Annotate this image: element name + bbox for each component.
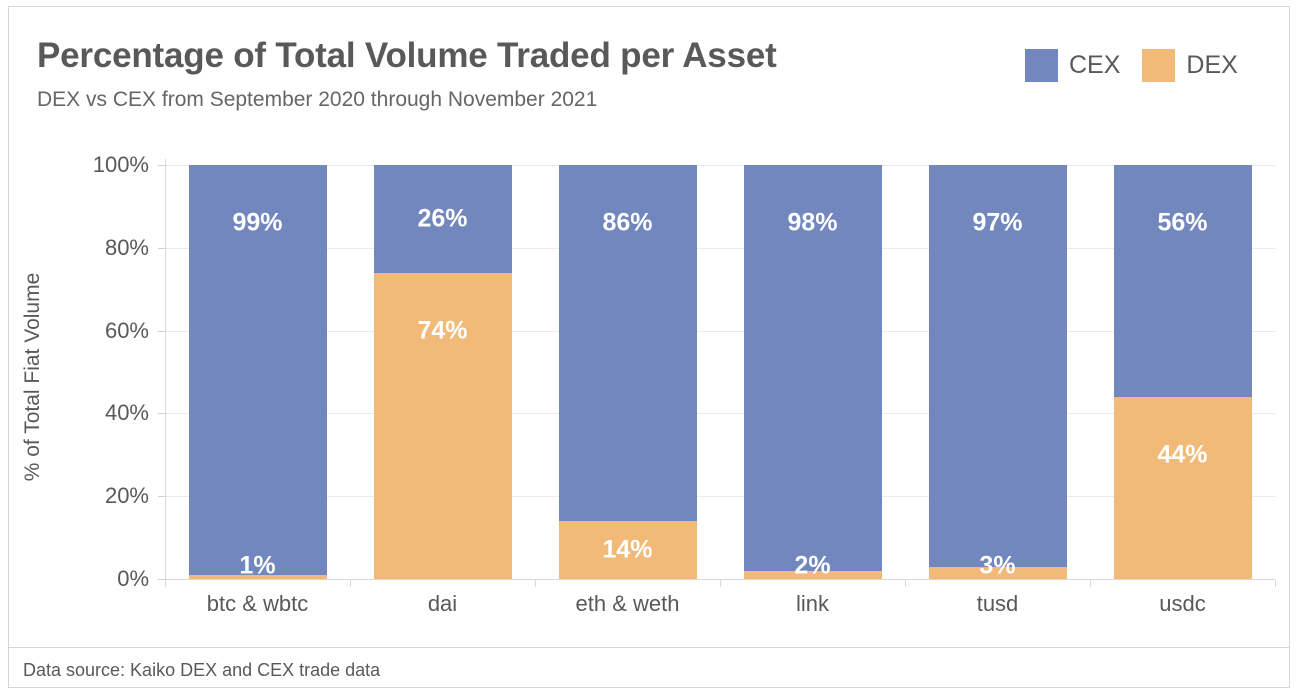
- bar-segment-cex[interactable]: [1114, 165, 1252, 397]
- y-axis-tickmark: [158, 496, 165, 497]
- bar-segment-cex[interactable]: [559, 165, 697, 521]
- y-axis-tickmark: [158, 579, 165, 580]
- x-axis-tickmark: [905, 580, 906, 587]
- bar-group[interactable]: 98%2%link: [744, 7, 882, 689]
- x-axis-tick-label: usdc: [1114, 591, 1252, 617]
- x-axis-tick-label: link: [744, 591, 882, 617]
- x-axis-tickmark: [535, 580, 536, 587]
- x-axis-tickmark: [165, 580, 166, 587]
- y-axis-tick-label: 40%: [44, 400, 149, 426]
- bar-group[interactable]: 97%3%tusd: [929, 7, 1067, 689]
- y-axis-tickmark: [158, 413, 165, 414]
- x-axis-tick-label: btc & wbtc: [189, 591, 327, 617]
- footer-divider: [9, 647, 1289, 648]
- chart-card: Percentage of Total Volume Traded per As…: [8, 6, 1290, 688]
- y-axis-tick-label: 100%: [44, 152, 149, 178]
- x-axis-tick-label: dai: [374, 591, 512, 617]
- x-axis-tickmark: [350, 580, 351, 587]
- bar-segment-dex[interactable]: [929, 567, 1067, 579]
- y-axis-tickmark: [158, 248, 165, 249]
- x-axis-tickmark: [720, 580, 721, 587]
- x-axis-tickmark: [1090, 580, 1091, 587]
- y-axis-tick-labels: 0%20%40%60%80%100%: [31, 7, 149, 689]
- x-axis-tick-label: tusd: [929, 591, 1067, 617]
- bar-group[interactable]: 26%74%dai: [374, 7, 512, 689]
- bar-segment-dex[interactable]: [744, 571, 882, 579]
- y-axis-tickmark: [158, 165, 165, 166]
- y-axis-tick-label: 60%: [44, 318, 149, 344]
- y-axis-tick-label: 0%: [44, 566, 149, 592]
- bar-segment-dex[interactable]: [189, 575, 327, 579]
- y-axis-tickmark: [158, 331, 165, 332]
- bar-segment-dex[interactable]: [1114, 397, 1252, 579]
- x-axis-tickmark: [1275, 580, 1276, 587]
- bar-segment-cex[interactable]: [374, 165, 512, 273]
- x-axis-tick-label: eth & weth: [559, 591, 697, 617]
- bar-segment-dex[interactable]: [559, 521, 697, 579]
- y-axis-tick-label: 80%: [44, 235, 149, 261]
- bar-series-container: 99%1%btc & wbtc26%74%dai86%14%eth & weth…: [165, 7, 1275, 689]
- bar-segment-cex[interactable]: [929, 165, 1067, 567]
- data-source-note: Data source: Kaiko DEX and CEX trade dat…: [23, 660, 380, 681]
- y-axis-tick-label: 20%: [44, 483, 149, 509]
- bar-group[interactable]: 56%44%usdc: [1114, 7, 1252, 689]
- plot-area: % of Total Fiat Volume 0%20%40%60%80%100…: [9, 7, 1289, 689]
- bar-segment-dex[interactable]: [374, 273, 512, 579]
- bar-group[interactable]: 99%1%btc & wbtc: [189, 7, 327, 689]
- bar-group[interactable]: 86%14%eth & weth: [559, 7, 697, 689]
- bar-segment-cex[interactable]: [189, 165, 327, 575]
- bar-segment-cex[interactable]: [744, 165, 882, 571]
